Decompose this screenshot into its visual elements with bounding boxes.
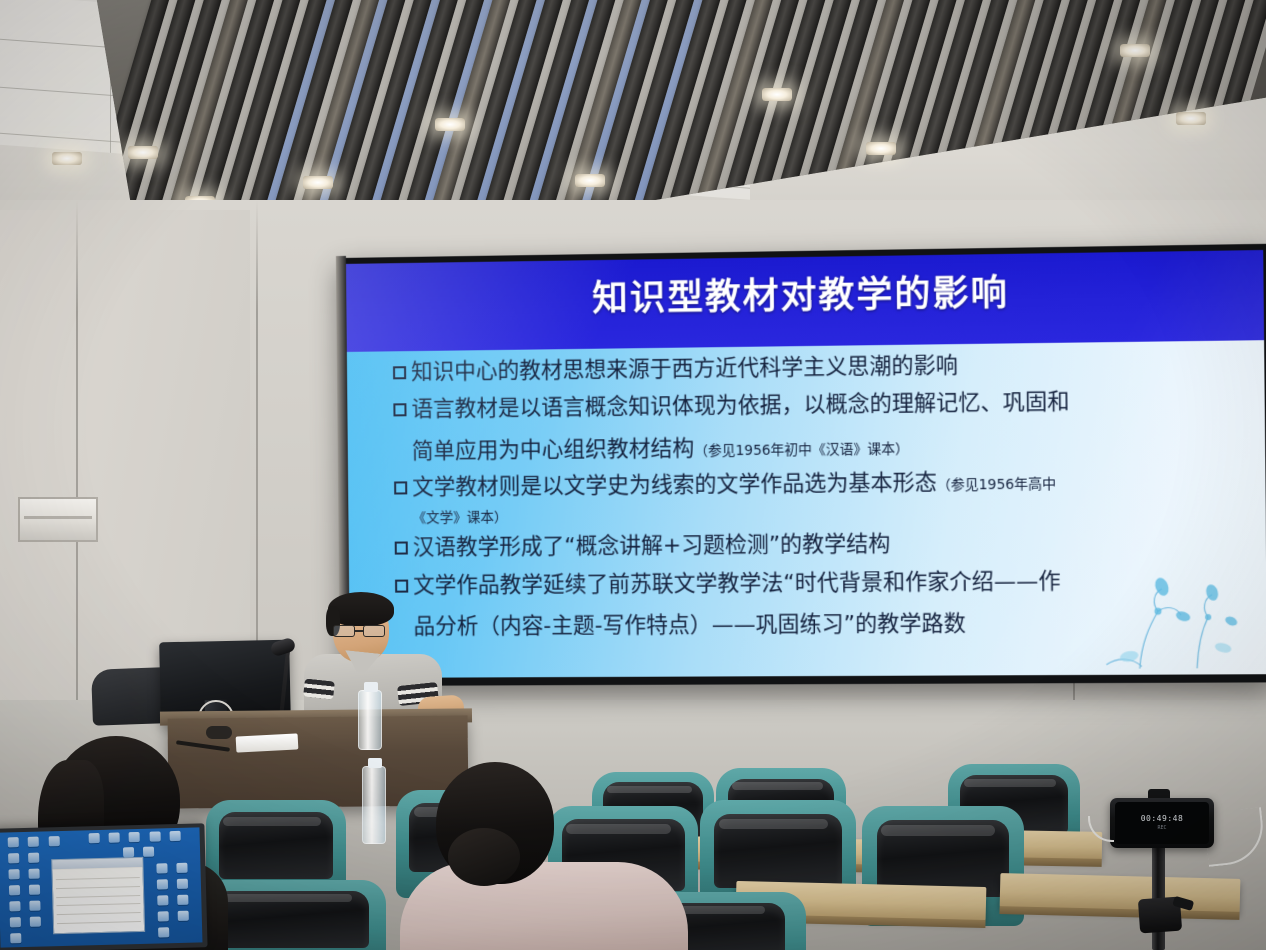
ceiling-downlight xyxy=(303,176,333,189)
floral-motif-icon xyxy=(1097,557,1255,670)
phone-screen[interactable]: 00:49:48 REC xyxy=(1115,802,1209,844)
bottle-cap xyxy=(364,682,378,692)
audience-hair-bun xyxy=(448,828,520,886)
laptop-document-window[interactable] xyxy=(51,856,146,934)
speaker-hair xyxy=(328,592,394,626)
laptop-screen[interactable] xyxy=(0,827,202,947)
bullet-note: （参见1956年高中 xyxy=(937,476,1056,493)
water-bottle xyxy=(358,690,382,750)
bullet-square-icon xyxy=(393,404,406,417)
bullet-continuation-text: 简单应用为中心组织教材结构 xyxy=(412,436,695,464)
bullet-square-icon xyxy=(393,366,406,379)
laptop[interactable] xyxy=(0,823,208,950)
projection-screen[interactable]: 知识型教材对教学的影响 知识中心的教材思想来源于西方近代科学主义思潮的影响 语言… xyxy=(339,244,1266,686)
slide-bullet: 语言教材是以语言概念知识体现为依据，以概念的理解记忆、巩固和 xyxy=(393,387,1246,425)
bottle-cap xyxy=(368,758,382,768)
ceiling-downlight xyxy=(866,142,896,155)
papers-on-podium xyxy=(236,733,299,752)
recording-phone[interactable]: 00:49:48 REC xyxy=(1110,798,1214,848)
ceiling-downlight xyxy=(1176,112,1206,125)
bullet-text: 汉语教学形成了“概念讲解+习题检测”的教学结构 xyxy=(413,531,891,563)
bullet-text: 语言教材是以语言概念知识体现为依据，以概念的理解记忆、巩固和 xyxy=(411,389,1069,425)
ceiling-downlight xyxy=(1120,44,1150,57)
bullet-text: 文学作品教学延续了前苏联文学教学法“时代背景和作家介绍——作 xyxy=(413,568,1061,601)
podium-object xyxy=(206,726,232,739)
ceiling-downlight xyxy=(128,146,158,159)
bullet-text: 文学教材则是以文学史为线索的文学作品选为基本形态（参见1956年高中 xyxy=(412,468,1056,503)
bullet-note-wrap: 《文学》课本） xyxy=(394,499,1247,526)
recording-timecode: 00:49:48 xyxy=(1115,814,1209,823)
bullet-note: （参见1956年初中《汉语》课本） xyxy=(694,441,909,459)
water-bottle xyxy=(362,766,386,844)
wall-seam xyxy=(76,200,78,760)
lecture-hall-photo: 知识型教材对教学的影响 知识中心的教材思想来源于西方近代科学主义思潮的影响 语言… xyxy=(0,0,1266,950)
bullet-square-icon xyxy=(395,579,408,592)
seat-desktop xyxy=(1000,873,1241,913)
ceiling-downlight xyxy=(575,174,605,187)
presentation-slide: 知识型教材对教学的影响 知识中心的教材思想来源于西方近代科学主义思潮的影响 语言… xyxy=(346,250,1266,678)
tripod-clamp[interactable] xyxy=(1138,897,1182,934)
ceiling-downlight xyxy=(435,118,465,131)
wall-light-fixture xyxy=(18,497,98,542)
audience-shoulders xyxy=(400,862,688,950)
bullet-square-icon xyxy=(394,481,407,494)
ceiling-downlight xyxy=(52,152,82,165)
recording-label: REC xyxy=(1115,825,1209,831)
slide-bullet: 文学教材则是以文学史为线索的文学作品选为基本形态（参见1956年高中 xyxy=(394,466,1247,503)
slide-bullet: 知识中心的教材思想来源于西方近代科学主义思潮的影响 xyxy=(393,349,1246,388)
bullet-continuation: 简单应用为中心组织教材结构（参见1956年初中《汉语》课本） xyxy=(394,425,1247,465)
bullet-text: 知识中心的教材思想来源于西方近代科学主义思潮的影响 xyxy=(411,352,958,387)
eyeglasses-icon xyxy=(331,625,389,637)
sleeve-stripe xyxy=(303,678,335,699)
bullet-main-text: 文学教材则是以文学史为线索的文学作品选为基本形态 xyxy=(412,470,937,500)
ceiling-downlight xyxy=(762,88,792,101)
bullet-square-icon xyxy=(395,542,408,555)
